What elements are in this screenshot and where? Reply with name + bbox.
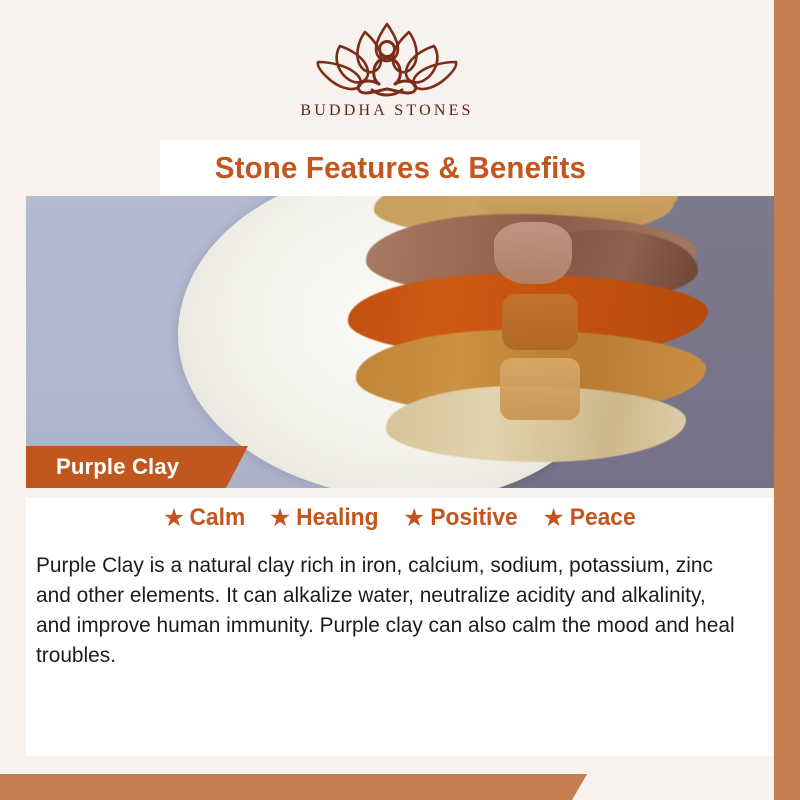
benefit-item-peace: ★ Peace xyxy=(542,504,637,532)
benefits-row: ★ Calm ★ Healing ★ Positive ★ Peace xyxy=(26,504,774,532)
content-panel: ★ Calm ★ Healing ★ Positive ★ Peace Purp… xyxy=(26,488,774,756)
benefit-label: Peace xyxy=(570,504,636,532)
benefit-item-positive: ★ Positive xyxy=(403,504,520,532)
poster: BUDDHA STONES Stone Features & Benefits … xyxy=(0,0,800,800)
clay-chip-lower xyxy=(500,358,580,420)
star-icon: ★ xyxy=(403,506,425,531)
clay-powder-photo xyxy=(26,196,774,488)
ceramic-plate xyxy=(178,196,630,488)
panel-top-strip xyxy=(26,488,774,498)
brand-header: BUDDHA STONES xyxy=(0,0,774,140)
frame-right-band xyxy=(774,0,800,800)
clay-chip-upper xyxy=(494,222,572,284)
benefit-label: Positive xyxy=(431,504,518,532)
star-icon: ★ xyxy=(269,506,291,531)
lotus-meditation-icon xyxy=(302,16,472,100)
star-icon: ★ xyxy=(542,506,564,531)
page-title: Stone Features & Benefits xyxy=(214,150,585,186)
stone-name-text: Purple Clay xyxy=(56,454,179,480)
brand-wordmark: BUDDHA STONES xyxy=(300,102,473,120)
stone-name-label: Purple Clay xyxy=(26,446,248,488)
stone-description: Purple Clay is a natural clay rich in ir… xyxy=(36,550,742,670)
star-icon: ★ xyxy=(163,506,185,531)
benefit-label: Calm xyxy=(190,504,246,532)
benefit-item-calm: ★ Calm xyxy=(163,504,247,532)
title-banner: Stone Features & Benefits xyxy=(160,140,640,196)
benefit-label: Healing xyxy=(296,504,378,532)
benefit-item-healing: ★ Healing xyxy=(269,504,381,532)
clay-chip-middle xyxy=(502,294,578,350)
